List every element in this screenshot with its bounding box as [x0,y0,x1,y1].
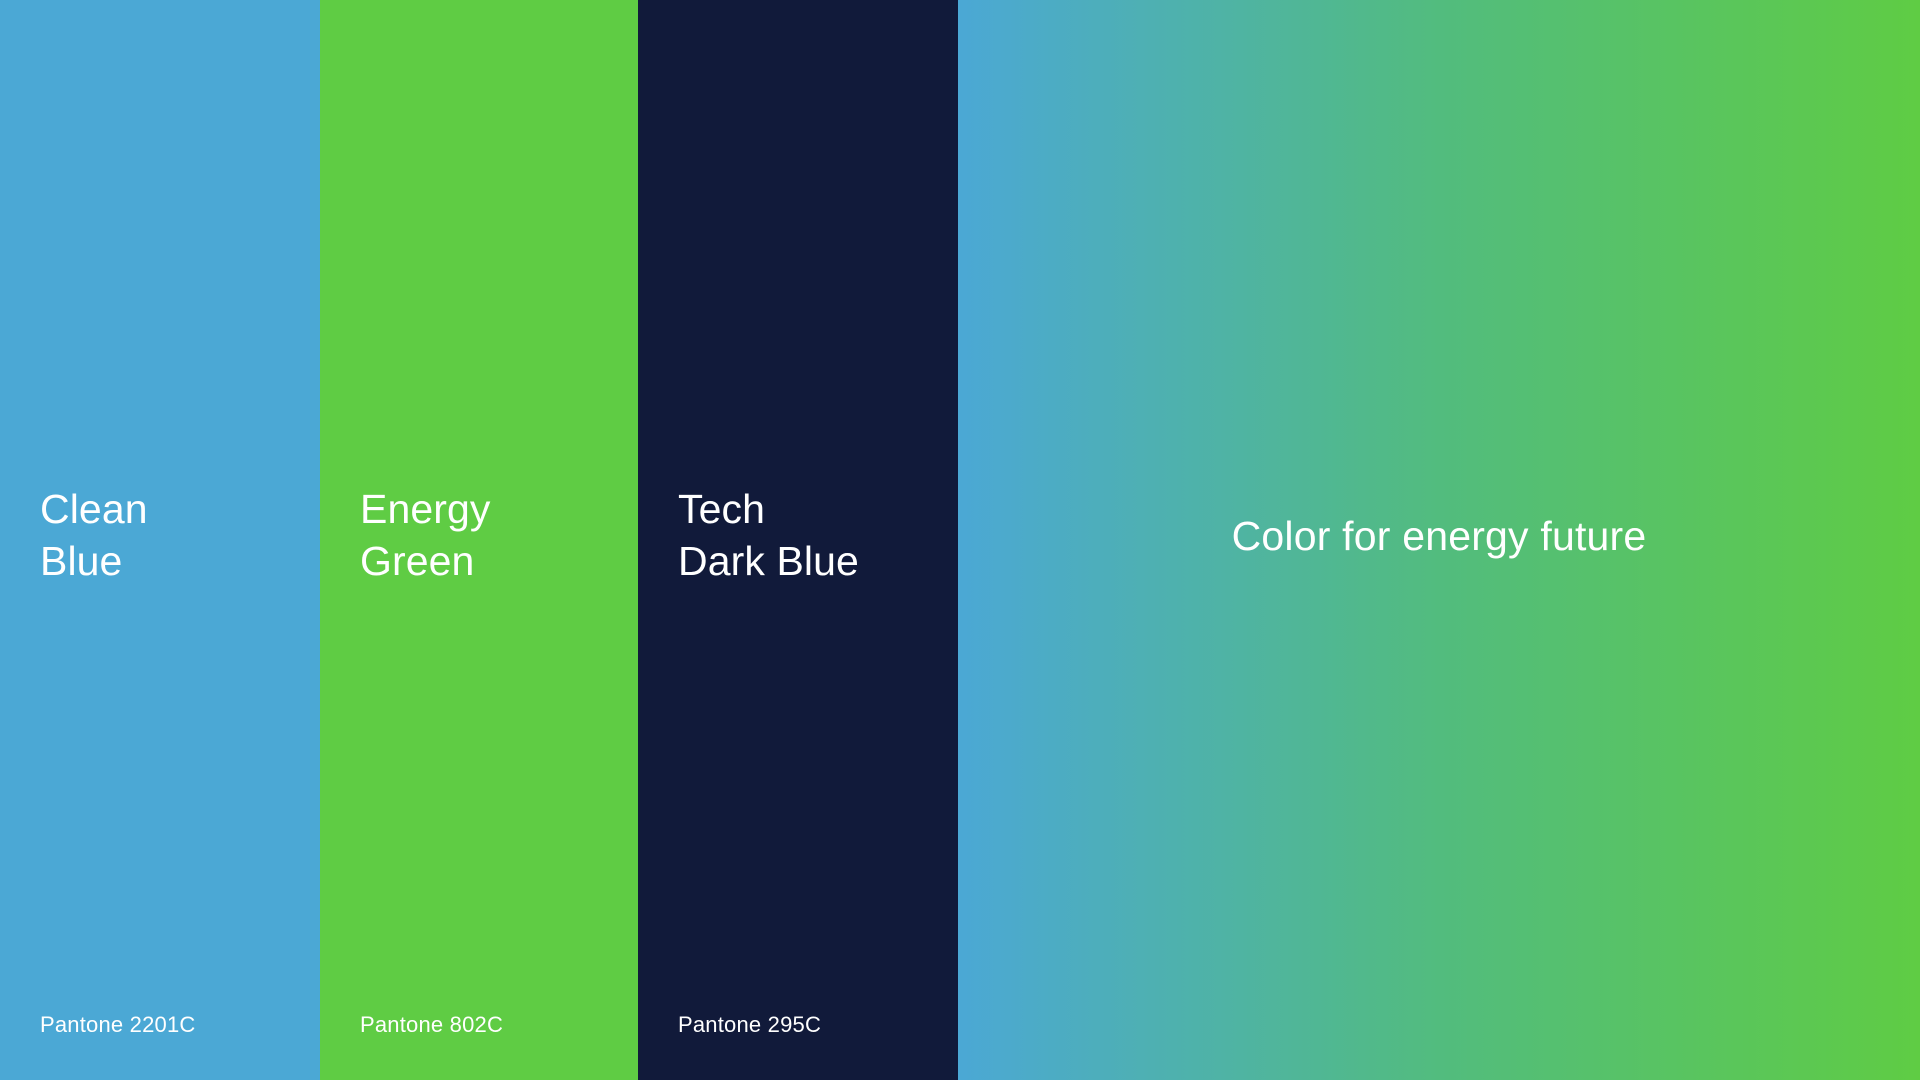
gradient-tagline: Color for energy future [1232,513,1647,560]
color-swatch-energy-green[interactable]: Energy Green Pantone 802C [320,0,638,1080]
gradient-showcase-panel: Color for energy future [958,0,1920,1080]
swatch-pantone-code: Pantone 802C [360,1012,503,1038]
swatch-name-label: Energy Green [360,484,491,587]
swatch-name-label: Clean Blue [40,484,148,587]
color-swatch-clean-blue[interactable]: Clean Blue Pantone 2201C [0,0,320,1080]
color-swatch-tech-dark-blue[interactable]: Tech Dark Blue Pantone 295C [638,0,958,1080]
swatch-name-label: Tech Dark Blue [678,484,859,587]
color-palette-board: Clean Blue Pantone 2201C Energy Green Pa… [0,0,1920,1080]
swatch-pantone-code: Pantone 2201C [40,1012,196,1038]
swatch-pantone-code: Pantone 295C [678,1012,821,1038]
